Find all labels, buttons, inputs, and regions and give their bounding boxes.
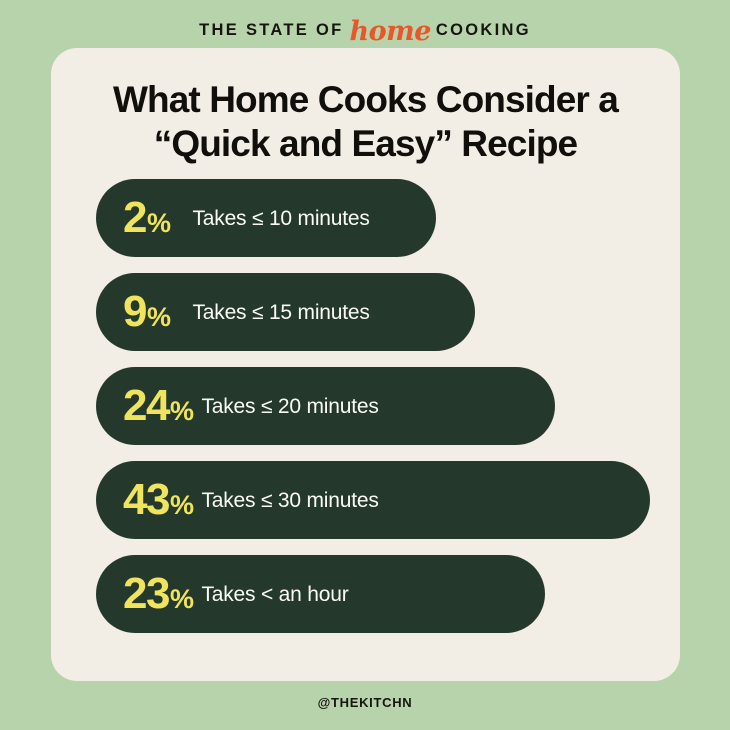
bar-label: Takes ≤ 15 minutes: [193, 302, 370, 323]
bar-takes-15-minutes: 9% Takes ≤ 15 minutes: [96, 273, 475, 351]
bar-label: Takes < an hour: [201, 584, 348, 605]
bar-takes-10-minutes: 2% Takes ≤ 10 minutes: [96, 179, 436, 257]
bar-takes-under-an-hour: 23% Takes < an hour: [96, 555, 545, 633]
bar-chart: 2% Takes ≤ 10 minutes 9% Takes ≤ 15 minu…: [96, 179, 680, 649]
bar-row: 2% Takes ≤ 10 minutes: [96, 179, 680, 257]
percent-sign: %: [170, 586, 194, 613]
bar-value-number: 23: [123, 572, 169, 616]
bar-value-number: 2: [123, 196, 146, 240]
brand-header: THE STATE OF home COOKING: [0, 14, 730, 46]
bar-label: Takes ≤ 10 minutes: [193, 208, 370, 229]
bar-value-number: 43: [123, 478, 169, 522]
bar-value-number: 24: [123, 384, 169, 428]
page-title-line-1: What Home Cooks Consider a: [51, 78, 680, 122]
infographic-canvas: THE STATE OF home COOKING What Home Cook…: [0, 0, 730, 730]
percent-sign: %: [147, 304, 171, 331]
bar-value: 23%: [123, 572, 193, 616]
bar-row: 24% Takes ≤ 20 minutes: [96, 367, 680, 445]
content-card: What Home Cooks Consider a “Quick and Ea…: [51, 48, 680, 681]
page-title-line-2: “Quick and Easy” Recipe: [51, 122, 680, 166]
bar-value: 2%: [123, 196, 171, 240]
bar-value: 9%: [123, 290, 171, 334]
bar-row: 9% Takes ≤ 15 minutes: [96, 273, 680, 351]
brand-prefix: THE STATE OF: [199, 21, 343, 40]
percent-sign: %: [147, 210, 171, 237]
brand-suffix: COOKING: [436, 21, 531, 40]
percent-sign: %: [170, 492, 194, 519]
bar-value: 43%: [123, 478, 193, 522]
bar-takes-30-minutes: 43% Takes ≤ 30 minutes: [96, 461, 650, 539]
footer-handle: @THEKITCHN: [0, 695, 730, 710]
page-title: What Home Cooks Consider a “Quick and Ea…: [51, 78, 680, 166]
bar-label: Takes ≤ 30 minutes: [201, 490, 378, 511]
bar-row: 43% Takes ≤ 30 minutes: [96, 461, 680, 539]
brand-script-word: home: [350, 16, 431, 47]
bar-takes-20-minutes: 24% Takes ≤ 20 minutes: [96, 367, 555, 445]
bar-value-number: 9: [123, 290, 146, 334]
percent-sign: %: [170, 398, 194, 425]
bar-value: 24%: [123, 384, 193, 428]
bar-row: 23% Takes < an hour: [96, 555, 680, 633]
bar-label: Takes ≤ 20 minutes: [201, 396, 378, 417]
